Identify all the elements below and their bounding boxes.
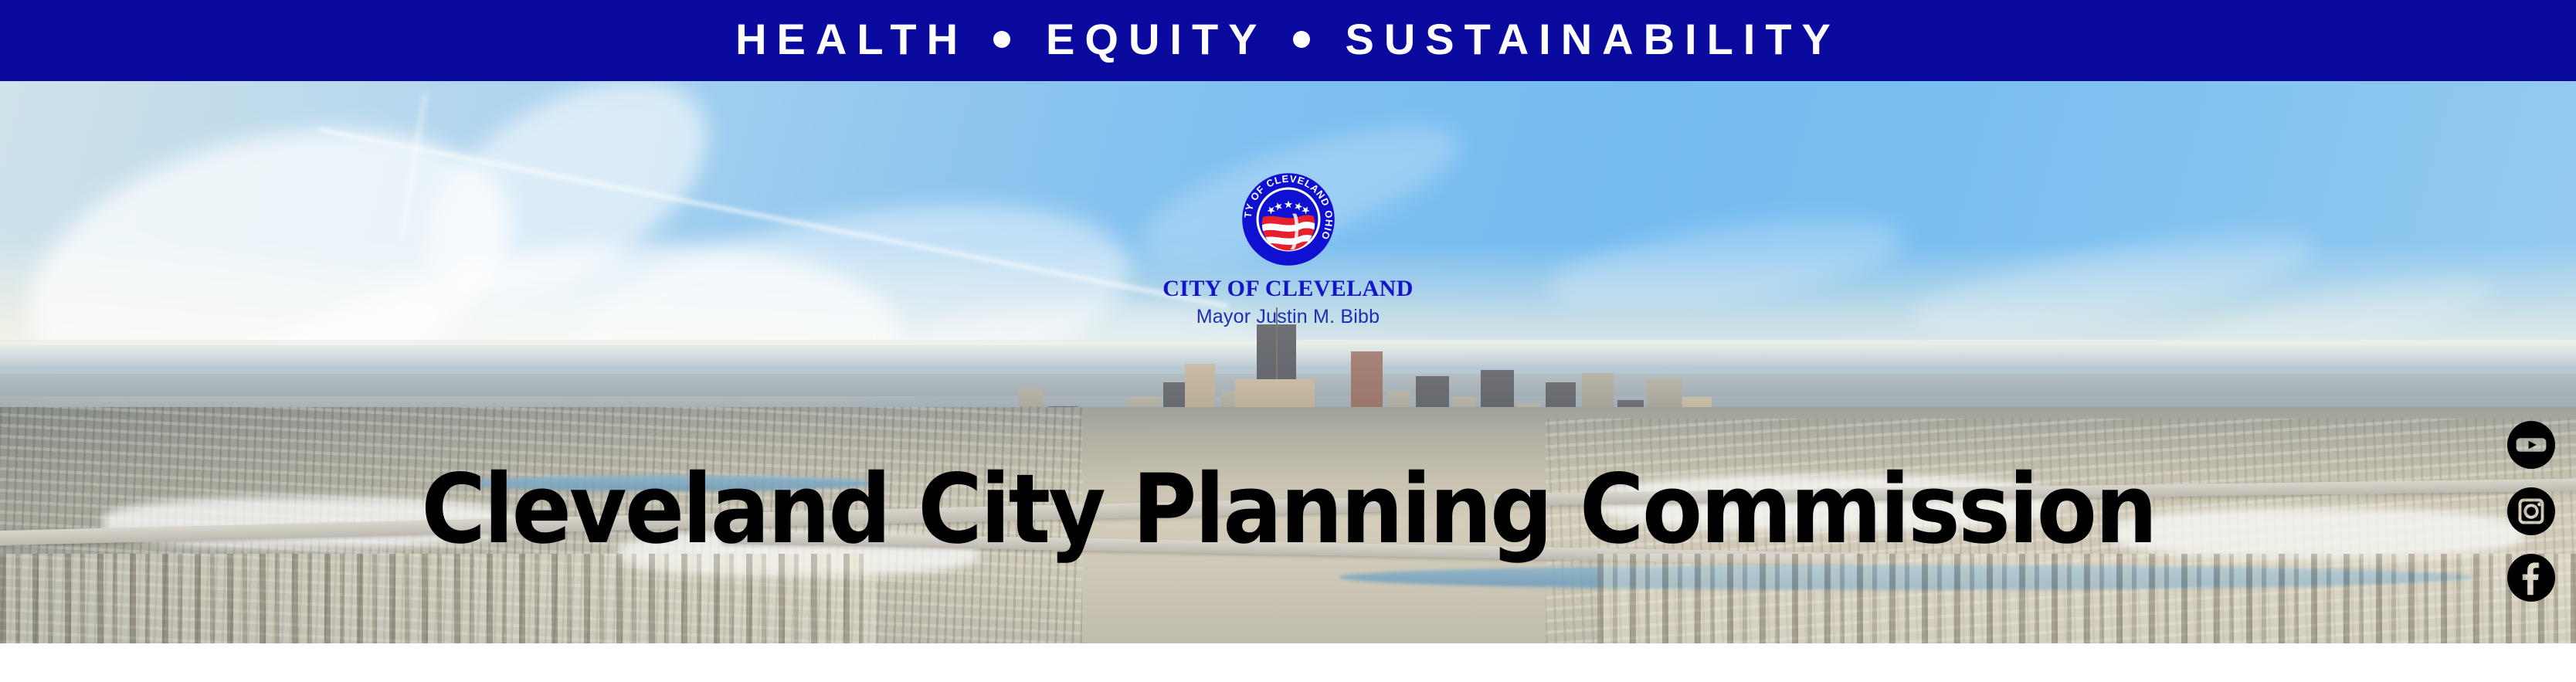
- youtube-icon[interactable]: [2507, 421, 2555, 469]
- snow-patch: [2113, 508, 2525, 559]
- brand-mayor-name: Mayor Justin M. Bibb: [1126, 307, 1451, 327]
- city-brand-block: CITY OF CLEVELAND OHIO: [1126, 172, 1451, 327]
- page-title: Cleveland City Planning Commission: [421, 462, 2155, 558]
- hero-banner: CITY OF CLEVELAND OHIO: [0, 81, 2576, 643]
- city-of-cleveland-seal-icon: CITY OF CLEVELAND OHIO: [1241, 172, 1336, 266]
- houses-row: [0, 554, 876, 643]
- bullet-dot-icon: [1293, 31, 1310, 48]
- tagline-word-sustainability: SUSTAINABILITY: [1346, 18, 1841, 61]
- tagline-banner-inner: HEALTH EQUITY SUSTAINABILITY: [735, 18, 1841, 61]
- houses-row: [1597, 554, 2576, 643]
- tagline-word-equity: EQUITY: [1046, 18, 1267, 61]
- facebook-icon[interactable]: [2507, 554, 2555, 602]
- page-root: HEALTH EQUITY SUSTAINABILITY: [0, 0, 2576, 682]
- brand-city-name: CITY OF CLEVELAND: [1126, 277, 1451, 300]
- instagram-icon[interactable]: [2507, 487, 2555, 535]
- social-links: [2507, 421, 2555, 602]
- bullet-dot-icon: [993, 31, 1010, 48]
- tagline-word-health: HEALTH: [735, 18, 968, 61]
- tagline-banner: HEALTH EQUITY SUSTAINABILITY: [0, 0, 2576, 81]
